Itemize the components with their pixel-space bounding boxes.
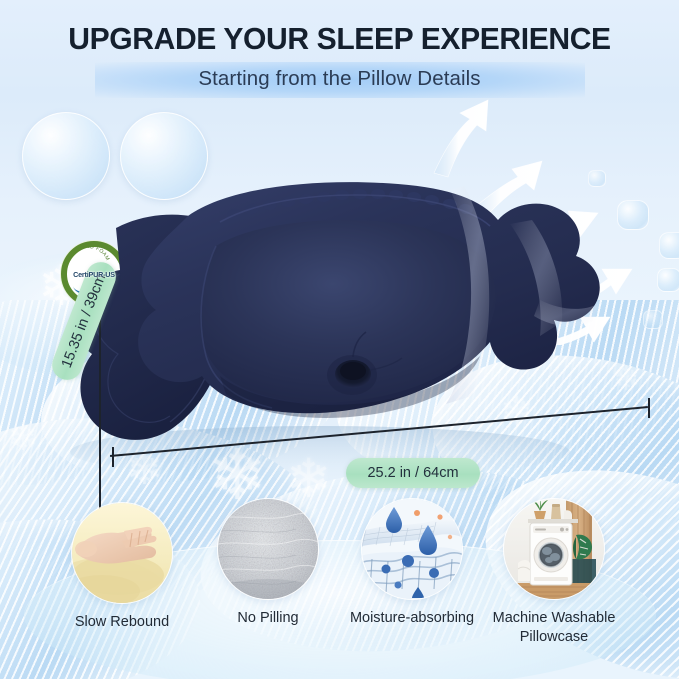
product-marketing-image: ❄ ❄ ❄ ❄ ❄ ❄ ❄ ❄ UPGRADE YOUR SLEEP EXPER… — [0, 0, 679, 679]
page-title: UPGRADE YOUR SLEEP EXPERIENCE — [10, 21, 669, 57]
feature-label: No Pilling — [188, 609, 348, 628]
page-subtitle: Starting from the Pillow Details — [0, 67, 679, 91]
feature-no-pilling[interactable]: No Pilling — [188, 498, 348, 628]
dimension-label-horizontal: 25.2 in / 64cm — [346, 458, 480, 488]
certipur-label: CertiPUR-US — [73, 270, 115, 279]
feature-slow-rebound[interactable]: Slow Rebound — [42, 502, 202, 632]
feature-label: Slow Rebound — [42, 613, 202, 632]
feature-label: Moisture-absorbing — [332, 609, 492, 628]
feature-moisture-absorbing[interactable]: Moisture-absorbing — [332, 498, 492, 628]
contour-cervical-pillow — [20, 150, 620, 480]
dimension-tick-right — [648, 398, 650, 418]
hand-pressing-memory-foam-image — [71, 502, 173, 604]
dimension-tick-left — [112, 447, 114, 467]
feature-row: Slow Rebound — [0, 498, 679, 679]
fabric-texture-closeup-image — [217, 498, 319, 600]
water-droplets-through-mesh-image — [361, 498, 463, 600]
feature-label: Machine Washable Pillowcase — [474, 609, 634, 647]
front-load-washing-machine-image — [503, 498, 605, 600]
feature-machine-washable[interactable]: Machine Washable Pillowcase — [474, 498, 634, 647]
